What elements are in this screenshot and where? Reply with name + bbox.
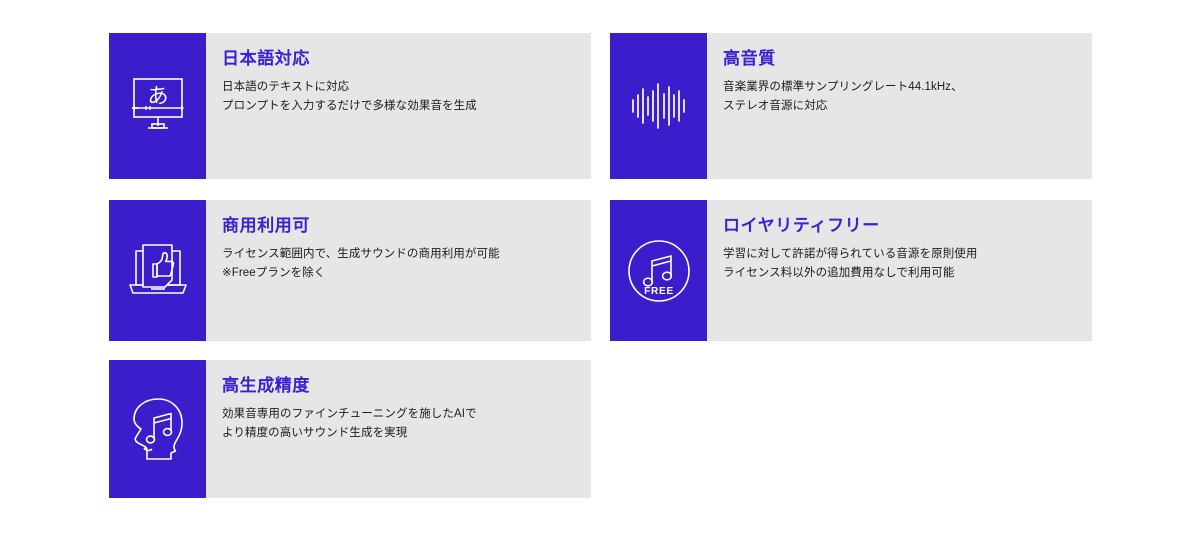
card-description: 学習に対して許諾が得られている音源を原則使用 ライセンス料以外の追加費用なしで利…	[723, 245, 1092, 282]
card-title: 高生成精度	[222, 375, 591, 396]
feature-card-grid: あ 日本語対応 日本語のテキストに対応 プロンプトを入力するだけで多様な効果音を…	[109, 33, 1092, 498]
card-description-line: ステレオ音源に対応	[723, 97, 1092, 116]
card-body: ロイヤリティフリー 学習に対して許諾が得られている音源を原則使用 ライセンス料以…	[707, 200, 1092, 341]
card-body: 高生成精度 効果音専用のファインチューニングを施したAIで より精度の高いサウン…	[206, 360, 591, 498]
card-description-line: ライセンス料以外の追加費用なしで利用可能	[723, 264, 1092, 283]
card-description-line: 学習に対して許諾が得られている音源を原則使用	[723, 245, 1092, 264]
monitor-hiragana-icon: あ	[126, 75, 190, 137]
card-description: 日本語のテキストに対応 プロンプトを入力するだけで多様な効果音を生成	[222, 78, 591, 115]
card-description-line: 日本語のテキストに対応	[222, 78, 591, 97]
card-description-line: より精度の高いサウンド生成を実現	[222, 424, 591, 443]
card-title: ロイヤリティフリー	[723, 215, 1092, 236]
card-title: 商用利用可	[222, 215, 591, 236]
svg-text:あ: あ	[147, 84, 168, 108]
head-music-note-icon	[125, 395, 191, 463]
icon-panel	[610, 33, 707, 179]
card-description-line: 効果音専用のファインチューニングを施したAIで	[222, 405, 591, 424]
audio-waveform-icon	[628, 75, 690, 137]
card-description: 音楽業界の標準サンプリングレート44.1kHz、 ステレオ音源に対応	[723, 78, 1092, 115]
card-description-line: ※Freeプランを除く	[222, 264, 591, 283]
card-description-line: プロンプトを入力するだけで多様な効果音を生成	[222, 97, 591, 116]
free-label: FREE	[644, 286, 674, 297]
card-description-line: 音楽業界の標準サンプリングレート44.1kHz、	[723, 78, 1092, 97]
icon-panel	[109, 360, 206, 498]
card-title: 日本語対応	[222, 48, 591, 69]
icon-panel	[109, 200, 206, 341]
feature-card-commercial-use: 商用利用可 ライセンス範囲内で、生成サウンドの商用利用が可能 ※Freeプランを…	[109, 200, 591, 341]
laptop-thumbs-up-icon	[125, 239, 191, 303]
feature-card-high-generation-accuracy: 高生成精度 効果音専用のファインチューニングを施したAIで より精度の高いサウン…	[109, 360, 591, 498]
icon-panel: あ	[109, 33, 206, 179]
feature-card-royalty-free: FREE ロイヤリティフリー 学習に対して許諾が得られている音源を原則使用 ライ…	[610, 200, 1092, 341]
card-body: 日本語対応 日本語のテキストに対応 プロンプトを入力するだけで多様な効果音を生成	[206, 33, 591, 179]
music-note-free-circle-icon: FREE	[626, 238, 692, 304]
card-description: ライセンス範囲内で、生成サウンドの商用利用が可能 ※Freeプランを除く	[222, 245, 591, 282]
card-title: 高音質	[723, 48, 1092, 69]
feature-card-japanese-support: あ 日本語対応 日本語のテキストに対応 プロンプトを入力するだけで多様な効果音を…	[109, 33, 591, 179]
card-body: 高音質 音楽業界の標準サンプリングレート44.1kHz、 ステレオ音源に対応	[707, 33, 1092, 179]
icon-panel: FREE	[610, 200, 707, 341]
card-body: 商用利用可 ライセンス範囲内で、生成サウンドの商用利用が可能 ※Freeプランを…	[206, 200, 591, 341]
card-description-line: ライセンス範囲内で、生成サウンドの商用利用が可能	[222, 245, 591, 264]
feature-card-high-audio-quality: 高音質 音楽業界の標準サンプリングレート44.1kHz、 ステレオ音源に対応	[610, 33, 1092, 179]
card-description: 効果音専用のファインチューニングを施したAIで より精度の高いサウンド生成を実現	[222, 405, 591, 442]
